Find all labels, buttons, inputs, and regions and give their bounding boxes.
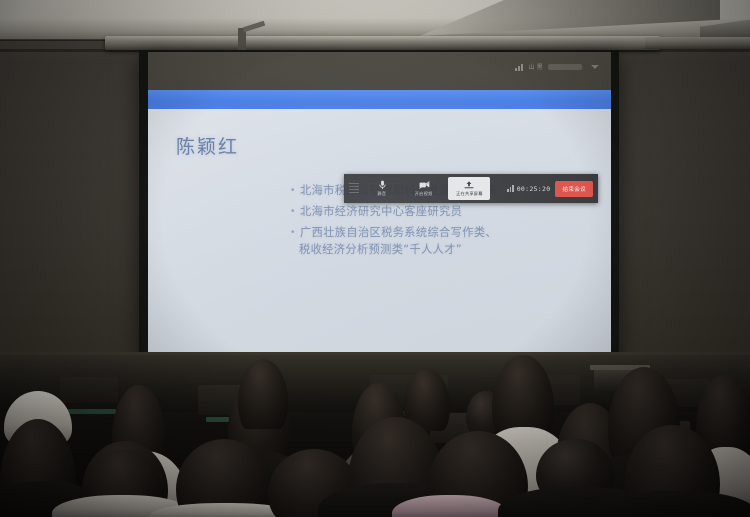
presentation-slide: 陈颖红 • 北海市税务局征管和科技发展科副科长 • 北海市经济研究中心客座研究员… <box>148 90 611 354</box>
mute-button[interactable]: 静音 <box>361 175 403 202</box>
list-item: • 北海市经济研究中心客座研究员 <box>291 203 591 220</box>
meeting-topbar-right[interactable]: 山 黑 <box>515 62 599 71</box>
bullet-text-multiline: 广西壮族自治区税务系统综合写作类、税收经济分析预测类“千人人才” <box>300 224 497 258</box>
projection-screen-surface: 山 黑 陈颖红 • 北海市税务局征管和科技发展科副科长 • 北海市经济研究中心客… <box>148 52 611 354</box>
bullet-text-line-1: 广西壮族自治区税务系统综合写作类、 <box>300 226 497 239</box>
meeting-topbar-label: 山 黑 <box>528 62 543 71</box>
share-screen-icon <box>464 180 474 190</box>
share-screen-button-label: 正在共享屏幕 <box>456 191 482 197</box>
start-video-button[interactable]: 开启视频 <box>403 175 445 202</box>
mute-button-label: 静音 <box>378 191 387 197</box>
screenshot-root: 山 黑 陈颖红 • 北海市税务局征管和科技发展科副科长 • 北海市经济研究中心客… <box>0 0 750 517</box>
meeting-timer-group: 00:25:20 <box>507 185 550 193</box>
bullet-text-line-2: 税收经济分析预测类“千人人才” <box>299 241 497 258</box>
chevron-down-icon[interactable] <box>591 65 599 69</box>
meeting-topbar-detail <box>548 64 582 70</box>
microphone-icon <box>379 180 386 190</box>
slide-accent-bar <box>148 90 611 109</box>
projector-screen-roller-right <box>645 37 750 49</box>
projector-screen-roller <box>105 36 660 50</box>
signal-bars-icon <box>515 63 523 71</box>
meeting-window-topbar: 山 黑 <box>148 52 611 90</box>
audience-area <box>0 355 750 517</box>
bullet-marker-icon: • <box>291 182 300 199</box>
slide-title: 陈颖红 <box>176 132 239 159</box>
end-meeting-button[interactable]: 结束会议 <box>555 181 593 197</box>
video-camera-off-icon <box>419 180 430 190</box>
drag-grip-icon[interactable] <box>349 183 359 194</box>
share-screen-button[interactable]: 正在共享屏幕 <box>448 177 490 200</box>
bullet-marker-icon: • <box>291 224 300 241</box>
meeting-toolbar[interactable]: 静音 开启视频 正在共享屏幕 00:25:2 <box>344 174 598 203</box>
bullet-text: 北海市经济研究中心客座研究员 <box>300 203 462 220</box>
chair <box>60 377 118 403</box>
start-video-button-label: 开启视频 <box>415 191 433 197</box>
bullet-marker-icon: • <box>291 203 300 220</box>
signal-bars-icon <box>507 185 514 192</box>
chair-backrest-accent <box>64 409 116 414</box>
meeting-timer: 00:25:20 <box>517 185 551 193</box>
audience-head <box>238 359 288 429</box>
list-item: • 广西壮族自治区税务系统综合写作类、税收经济分析预测类“千人人才” <box>291 224 591 258</box>
